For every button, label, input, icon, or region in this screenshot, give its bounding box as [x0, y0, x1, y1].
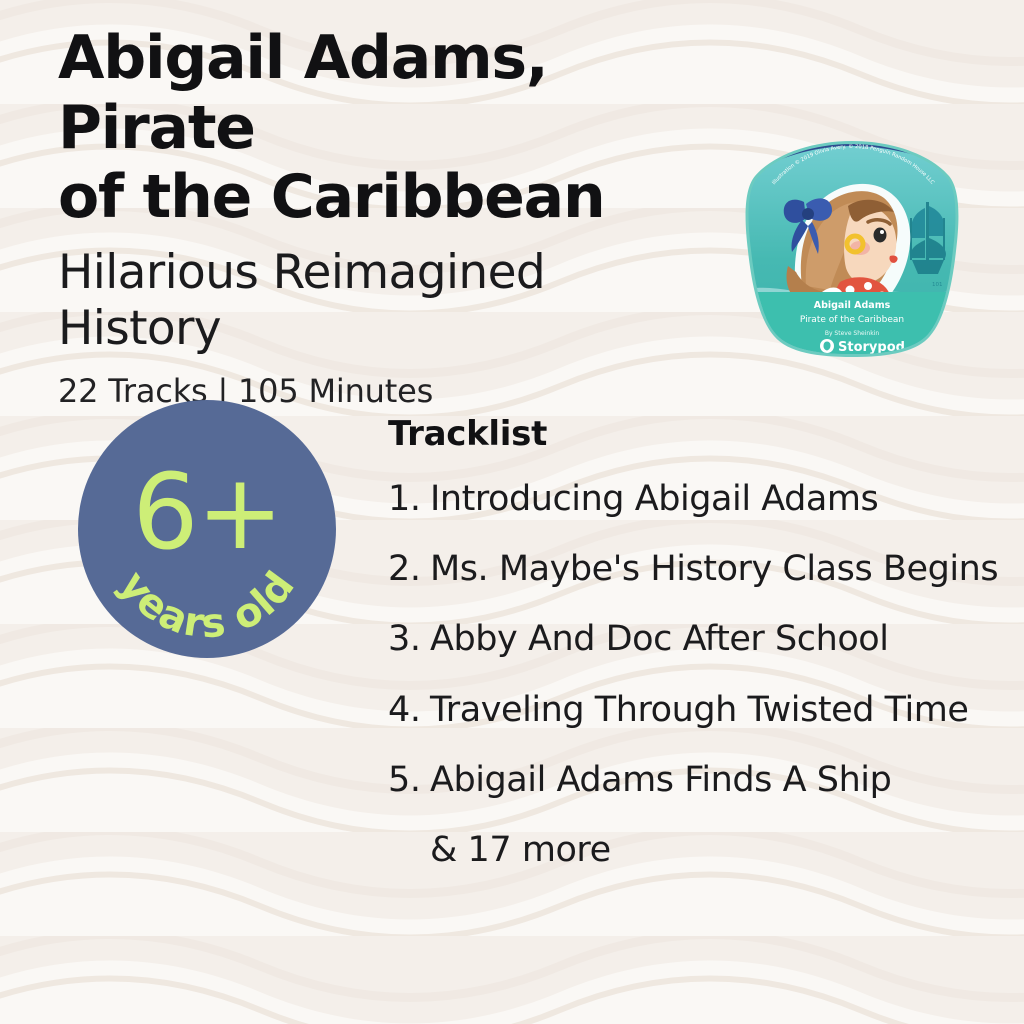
- list-item: 4. Traveling Through Twisted Time: [388, 687, 1008, 733]
- product-card-svg: Illustration © 2019 Olivia Avery. © 2018…: [744, 140, 960, 358]
- page-subtitle: Hilarious Reimagined History: [58, 245, 718, 358]
- track-title: Traveling Through Twisted Time: [430, 687, 1008, 733]
- list-item: 2. Ms. Maybe's History Class Begins: [388, 546, 1008, 592]
- card-subtitle: Pirate of the Caribbean: [800, 315, 904, 325]
- track-list: 1. Introducing Abigail Adams 2. Ms. Mayb…: [388, 476, 1008, 803]
- age-badge-svg: 6+ years old: [78, 400, 336, 658]
- card-author: By Steve Sheinkin: [825, 330, 879, 337]
- page-title: Abigail Adams, Pirate of the Caribbean: [58, 24, 718, 233]
- tracklist-heading: Tracklist: [388, 414, 1008, 454]
- track-number: 2.: [388, 546, 430, 592]
- list-item: 5. Abigail Adams Finds A Ship: [388, 757, 1008, 803]
- tracklist-section: Tracklist 1. Introducing Abigail Adams 2…: [388, 414, 1008, 873]
- card-corner-mark: 101: [932, 282, 943, 288]
- track-number: 3.: [388, 616, 430, 662]
- track-title: Abby And Doc After School: [430, 616, 1008, 662]
- product-info-card: Abigail Adams, Pirate of the Caribbean H…: [0, 0, 1024, 1024]
- track-title: Abigail Adams Finds A Ship: [430, 757, 1008, 803]
- list-item: 1. Introducing Abigail Adams: [388, 476, 1008, 522]
- storypod-craftie-card-image: Illustration © 2019 Olivia Avery. © 2018…: [744, 140, 960, 358]
- track-title: Introducing Abigail Adams: [430, 476, 1008, 522]
- track-title: Ms. Maybe's History Class Begins: [430, 546, 1008, 592]
- track-number: 4.: [388, 687, 430, 733]
- age-badge: 6+ years old: [78, 400, 336, 658]
- more-tracks-label: & 17 more: [430, 827, 1008, 873]
- header-block: Abigail Adams, Pirate of the Caribbean H…: [58, 24, 718, 410]
- list-item: 3. Abby And Doc After School: [388, 616, 1008, 662]
- track-number: 5.: [388, 757, 430, 803]
- age-badge-value: 6+: [132, 451, 281, 573]
- card-title: Abigail Adams: [814, 300, 891, 311]
- track-number: 1.: [388, 476, 430, 522]
